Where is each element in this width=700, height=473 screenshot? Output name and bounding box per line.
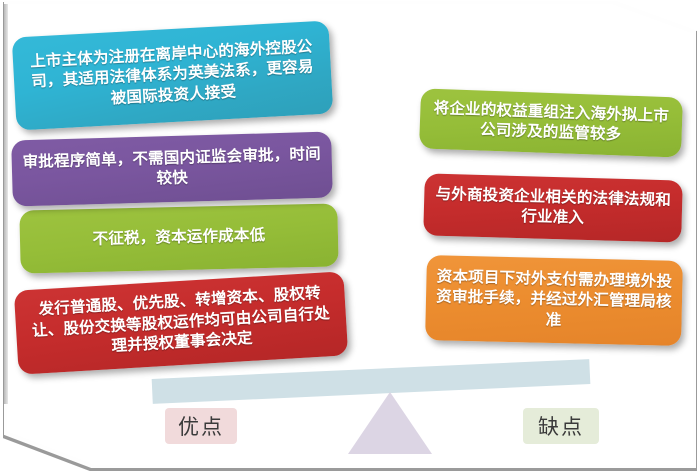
pros-label-badge: 优点 — [165, 408, 237, 444]
pros-callout-1[interactable]: 上市主体为注册在离岸中心的海外控股公司，其适用法律体系为英美法系，更容易被国际投… — [12, 20, 334, 130]
cons-callout-3-text: 资本项目下对外支付需办理境外投资审批手续，并经过外汇管理局核准 — [435, 267, 672, 334]
cons-callout-2[interactable]: 与外商投资企业相关的法律法规和行业准入 — [423, 173, 683, 242]
balance-fulcrum-triangle — [348, 392, 432, 454]
cons-callout-1-text: 将企业的权益重组注入海外拟上市公司涉及的监管较多 — [429, 98, 672, 147]
pros-callout-2[interactable]: 审批程序简单，不需国内证监会审批，时间较快 — [11, 132, 333, 207]
cons-callout-3[interactable]: 资本项目下对外支付需办理境外投资审批手续，并经过外汇管理局核准 — [425, 255, 683, 346]
slide-canvas: 上市主体为注册在离岸中心的海外控股公司，其适用法律体系为英美法系，更容易被国际投… — [0, 0, 700, 473]
pros-callout-1-text: 上市主体为注册在离岸中心的海外控股公司，其适用法律体系为英美法系，更容易被国际投… — [23, 37, 323, 114]
cons-label-badge: 缺点 — [523, 408, 599, 444]
pros-callout-4-text: 发行普通股、优先股、转增资本、股权转让、股份交换等股权运作均可由公司自行处理并授… — [24, 283, 337, 363]
pros-callout-2-text: 审批程序简单，不需国内证监会审批，时间较快 — [21, 144, 322, 193]
pros-callout-3-text: 不征税，资本运作成本低 — [92, 226, 265, 250]
slide-frame-left-edge — [4, 4, 8, 404]
cons-label-text: 缺点 — [538, 411, 584, 441]
pros-label-text: 优点 — [178, 411, 224, 441]
cons-callout-1[interactable]: 将企业的权益重组注入海外拟上市公司涉及的监管较多 — [419, 88, 683, 157]
cons-callout-2-text: 与外商投资企业相关的法律法规和行业准入 — [433, 184, 672, 232]
pros-callout-3[interactable]: 不征税，资本运作成本低 — [19, 203, 338, 273]
